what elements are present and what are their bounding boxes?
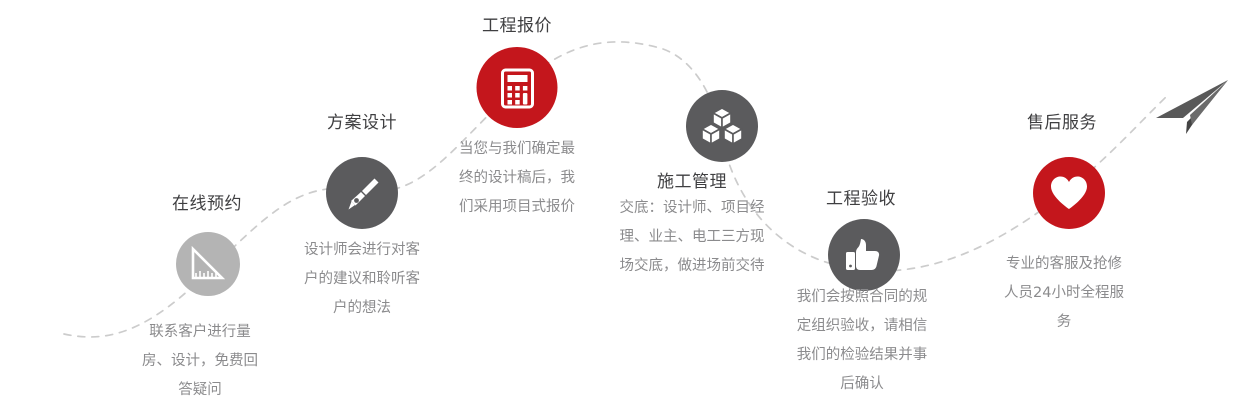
step-4-title: 施工管理 xyxy=(657,172,727,192)
boxes-icon xyxy=(686,90,758,162)
desc-line: 交底：设计师、项目经 xyxy=(587,194,797,223)
desc-line: 专业的客服及抢修 xyxy=(972,250,1157,279)
desc-line: 联系客户进行量 xyxy=(110,318,290,347)
step-3-title: 工程报价 xyxy=(482,16,552,36)
paper-plane-icon xyxy=(1150,78,1232,140)
desc-line: 人员24小时全程服 xyxy=(972,279,1157,308)
fountain-pen-icon xyxy=(326,157,398,229)
desc-line: 设计师会进行对客 xyxy=(270,236,455,265)
desc-line: 我们的检验结果并事 xyxy=(762,341,962,370)
desc-line: 户的想法 xyxy=(270,294,455,323)
step-2-title: 方案设计 xyxy=(327,113,397,133)
step-1-title: 在线预约 xyxy=(172,194,242,214)
ruler-triangle-icon xyxy=(176,232,240,296)
calculator-icon xyxy=(477,47,558,128)
desc-line: 理、业主、电工三方现 xyxy=(587,223,797,252)
desc-line: 户的建议和聆听客 xyxy=(270,265,455,294)
thumbs-up-icon xyxy=(828,219,900,291)
step-6-description: 专业的客服及抢修 人员24小时全程服 务 xyxy=(972,250,1157,337)
step-6-title: 售后服务 xyxy=(1027,113,1097,133)
step-2-description: 设计师会进行对客 户的建议和聆听客 户的想法 xyxy=(270,236,455,323)
desc-line: 场交底，做进场前交待 xyxy=(587,252,797,281)
step-3-description: 当您与我们确定最 终的设计稿后，我 们采用项目式报价 xyxy=(427,135,607,222)
step-4-description: 交底：设计师、项目经 理、业主、电工三方现 场交底，做进场前交待 xyxy=(587,194,797,281)
desc-line: 房、设计，免费回 xyxy=(110,347,290,376)
heart-icon xyxy=(1033,157,1105,229)
step-5-title: 工程验收 xyxy=(826,189,896,209)
step-1-description: 联系客户进行量 房、设计，免费回 答疑问 xyxy=(110,318,290,402)
desc-line: 我们会按照合同的规 xyxy=(762,283,962,312)
desc-line: 务 xyxy=(972,308,1157,337)
desc-line: 们采用项目式报价 xyxy=(427,193,607,222)
desc-line: 当您与我们确定最 xyxy=(427,135,607,164)
desc-line: 定组织验收，请相信 xyxy=(762,312,962,341)
desc-line: 终的设计稿后，我 xyxy=(427,164,607,193)
desc-line: 答疑问 xyxy=(110,376,290,402)
process-flow-diagram: 在线预约 联系客户进行量 房、设计，免费回 答疑问 方案设计 xyxy=(0,0,1245,402)
step-5-description: 我们会按照合同的规 定组织验收，请相信 我们的检验结果并事 后确认 xyxy=(762,283,962,399)
desc-line: 后确认 xyxy=(762,370,962,399)
